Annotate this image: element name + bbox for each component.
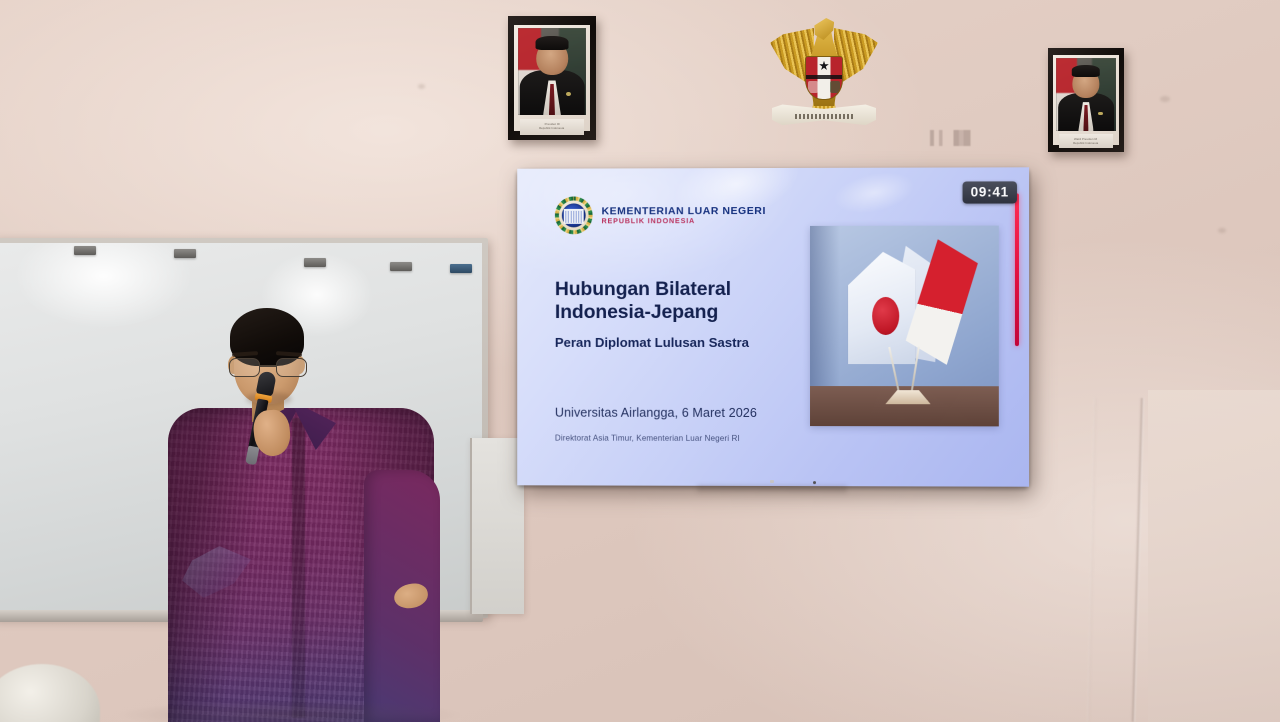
- slide-venue-date: Universitas Airlangga, 6 Maret 2026: [555, 406, 834, 420]
- presentation-slide[interactable]: KEMENTERIAN LUAR NEGERI REPUBLIK INDONES…: [517, 167, 1029, 486]
- whiteboard-clip-blue[interactable]: [450, 264, 472, 273]
- whiteboard-clip[interactable]: [74, 246, 96, 255]
- portrait-nameplate: Presiden RI Republik Indonesia: [520, 119, 583, 135]
- slide-subtitle: Peran Diplomat Lulusan Sastra: [555, 335, 814, 350]
- wall-side-panel: [1148, 390, 1280, 722]
- photo-wall-shadow: [810, 226, 840, 390]
- peci-cap: [1072, 65, 1100, 77]
- screen-glare-secondary: [830, 167, 918, 220]
- whiteboard-clip[interactable]: [304, 258, 326, 267]
- ministry-logo-text: KEMENTERIAN LUAR NEGERI REPUBLIK INDONES…: [602, 206, 766, 225]
- presidential-portrait: Presiden RI Republik Indonesia: [508, 16, 596, 140]
- ministry-seal-icon: [555, 196, 593, 234]
- shield-star: [819, 61, 829, 71]
- wall-scuff: [1160, 96, 1170, 102]
- ministry-country: REPUBLIK INDONESIA: [602, 217, 766, 225]
- nameplate-line2: Republik Indonesia: [539, 128, 564, 131]
- seal-building-glyph: [564, 209, 584, 224]
- shield-equator-band: [806, 75, 842, 78]
- slide-accent-bar: [1015, 193, 1019, 346]
- ministry-logo-block: KEMENTERIAN LUAR NEGERI REPUBLIK INDONES…: [555, 196, 766, 234]
- tv-bezel: KEMENTERIAN LUAR NEGERI REPUBLIK INDONES…: [517, 167, 1029, 486]
- tv-wall-mount-shadow: [697, 486, 847, 495]
- eyeglass-bridge: [260, 365, 276, 367]
- motto-text: [795, 114, 853, 119]
- slide-clock-badge: 09:41: [963, 181, 1017, 203]
- presenter: [168, 300, 434, 722]
- eyeglass-lens: [276, 358, 307, 377]
- slide-title: Hubungan Bilateral Indonesia-Jepang: [555, 278, 804, 323]
- tv-power-led: [770, 480, 774, 483]
- tv-sensor-dot: [813, 481, 816, 484]
- wall-scuff: [1218, 228, 1226, 233]
- wall-scribble-mark: [930, 130, 986, 146]
- whiteboard-clip[interactable]: [390, 262, 412, 271]
- garuda-pancasila-emblem: [768, 12, 880, 134]
- pancasila-shield: [805, 56, 843, 100]
- floor-shadow: [120, 700, 460, 722]
- bilateral-flags-photo: [810, 226, 999, 427]
- microphone-tail: [245, 446, 259, 466]
- portrait-photo: [518, 28, 587, 115]
- presentation-room-scene: Presiden RI Republik Indonesia Wakil Pre…: [0, 0, 1280, 722]
- shield-quadrant-right: [830, 81, 839, 94]
- eyeglass-lens: [229, 358, 260, 377]
- nameplate-line2: Republik Indonesia: [1073, 142, 1098, 145]
- lapel-pin: [1098, 112, 1102, 116]
- vice-presidential-portrait: Wakil Presiden RI Republik Indonesia: [1048, 48, 1124, 152]
- nameplate-line1: Wakil Presiden RI: [1074, 138, 1097, 141]
- whiteboard-clip[interactable]: [174, 249, 196, 258]
- peci-cap: [536, 36, 569, 50]
- whiteboard-side-panel: [470, 438, 524, 614]
- portrait-nameplate: Wakil Presiden RI Republik Indonesia: [1059, 134, 1114, 148]
- japan-flag: [848, 252, 916, 364]
- shirt-placket: [292, 418, 305, 718]
- wall-scuff: [418, 84, 425, 89]
- shield-quadrant-left: [808, 81, 817, 94]
- slide-department: Direktorat Asia Timur, Kementerian Luar …: [555, 434, 854, 444]
- japan-flag-sun-disc: [872, 297, 899, 335]
- portrait-photo: [1056, 58, 1115, 131]
- wall-mounted-tv[interactable]: KEMENTERIAN LUAR NEGERI REPUBLIK INDONES…: [517, 167, 1029, 486]
